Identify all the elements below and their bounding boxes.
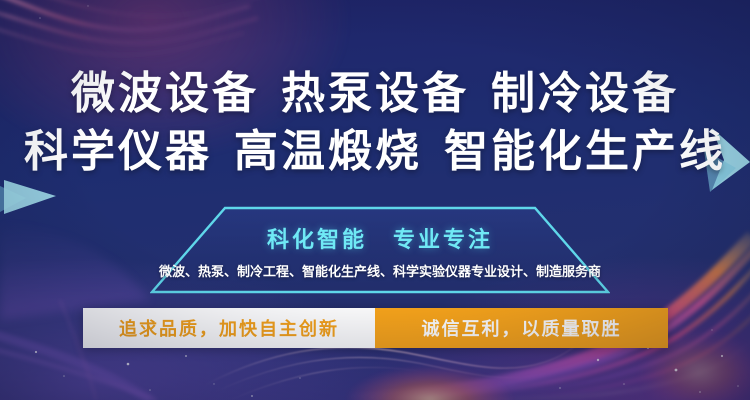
- headline-1-part-3: 制冷设备: [491, 69, 679, 118]
- headline-2-part-1: 科学仪器: [24, 127, 212, 176]
- headline-1-part-2: 热泵设备: [281, 69, 469, 118]
- top-ribbon-group: [0, 0, 272, 55]
- headline-line-1: 微波设备热泵设备制冷设备: [0, 68, 750, 120]
- left-arrow-icon: [4, 180, 56, 214]
- subtitle-trapezoid-frame: 科化智能专业专注 微波、热泵、制冷工程、智能化生产线、科学实验仪器专业设计、制造…: [150, 206, 610, 294]
- headline-1-part-1: 微波设备: [71, 69, 259, 118]
- subtitle-cyan-part-2: 专业专注: [393, 227, 493, 252]
- slogan-bar: 追求品质，加快自主创新 诚信互利，以质量取胜: [83, 308, 668, 348]
- subtitle-description: 微波、热泵、制冷工程、智能化生产线、科学实验仪器专业设计、制造服务商: [150, 261, 610, 280]
- headline-2-part-2: 高温煅烧: [234, 127, 422, 176]
- headline-line-2: 科学仪器高温煅烧智能化生产线: [0, 126, 750, 178]
- subtitle-cyan: 科化智能专业专注: [150, 222, 610, 254]
- subtitle-cyan-part-1: 科化智能: [267, 227, 367, 252]
- slogan-left[interactable]: 追求品质，加快自主创新: [83, 308, 375, 348]
- slogan-right[interactable]: 诚信互利，以质量取胜: [375, 308, 668, 348]
- left-haze: [0, 220, 150, 320]
- headline-2-part-3: 智能化生产线: [444, 127, 726, 176]
- warm-bloom: [345, 366, 515, 400]
- promo-banner: 微波设备热泵设备制冷设备 科学仪器高温煅烧智能化生产线 科化智能专业专注 微波、…: [0, 0, 750, 400]
